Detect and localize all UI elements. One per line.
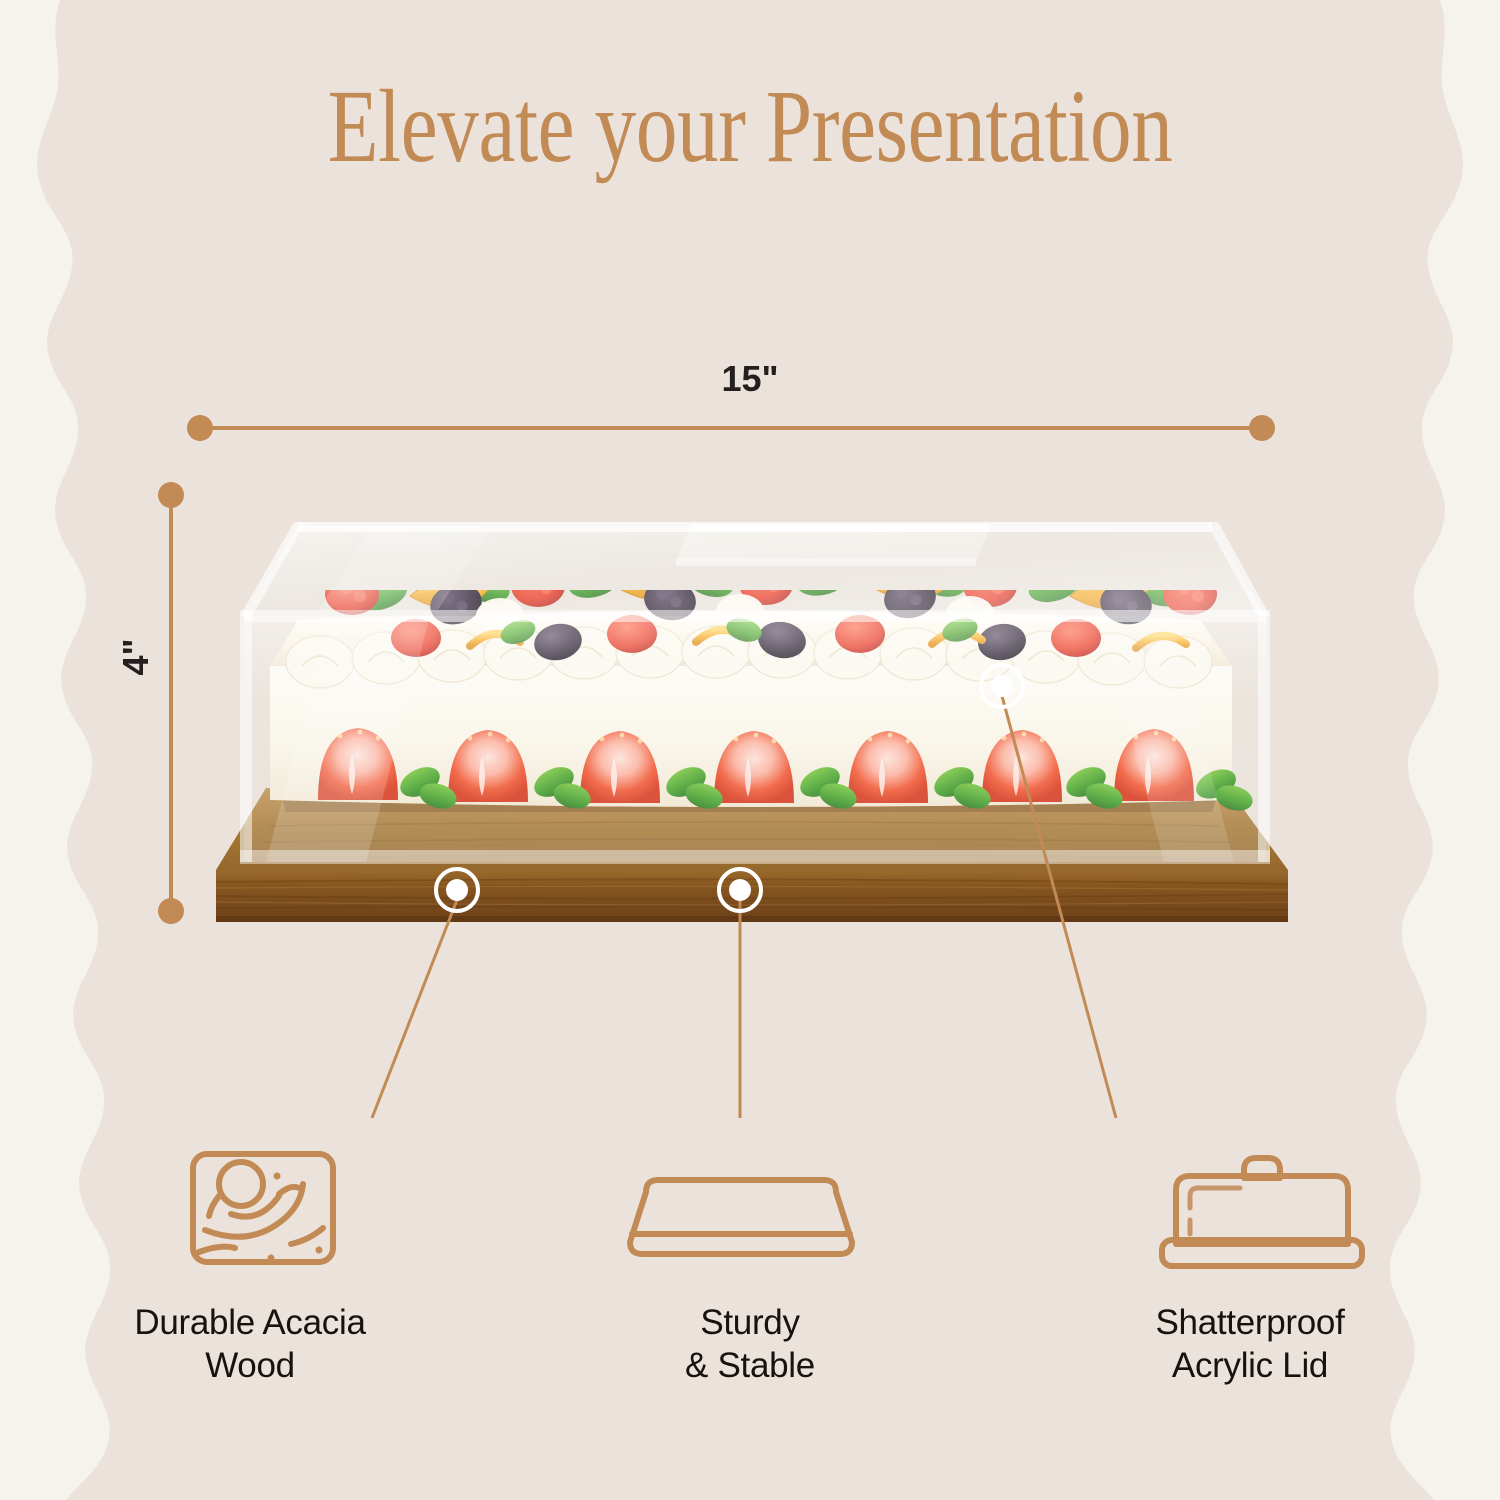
- page-title: Elevate your Presentation: [150, 72, 1350, 181]
- feature-list: Durable Acacia Wood Sturdy & Stable: [0, 1150, 1500, 1450]
- feature-label: Durable Acacia Wood: [134, 1302, 365, 1387]
- acrylic-lid-icon: [1152, 1144, 1372, 1270]
- callout-line-acrylic: [1002, 696, 1116, 1118]
- feature-sturdy-stable: Sturdy & Stable: [500, 1150, 1000, 1450]
- feature-label: Sturdy & Stable: [685, 1302, 815, 1387]
- feature-icon-wrapper: [1152, 1150, 1372, 1270]
- feature-icon-wrapper: [616, 1150, 866, 1270]
- feature-durable-acacia-wood: Durable Acacia Wood: [0, 1150, 500, 1450]
- feature-icon-wrapper: [183, 1150, 343, 1270]
- dimension-height-label: 4": [115, 617, 157, 697]
- feature-label: Shatterproof Acrylic Lid: [1155, 1302, 1344, 1387]
- flat-board-icon: [616, 1170, 866, 1270]
- callout-line-wood: [372, 900, 457, 1118]
- infographic-canvas: Elevate your Presentation 15" 4" wood-to…: [0, 0, 1500, 1500]
- feature-shatterproof-acrylic-lid: Shatterproof Acrylic Lid: [1000, 1150, 1500, 1450]
- wood-grain-icon: [183, 1146, 343, 1270]
- callout-marker-wood[interactable]: [436, 869, 478, 911]
- dimension-width-label: 15": [0, 358, 1500, 400]
